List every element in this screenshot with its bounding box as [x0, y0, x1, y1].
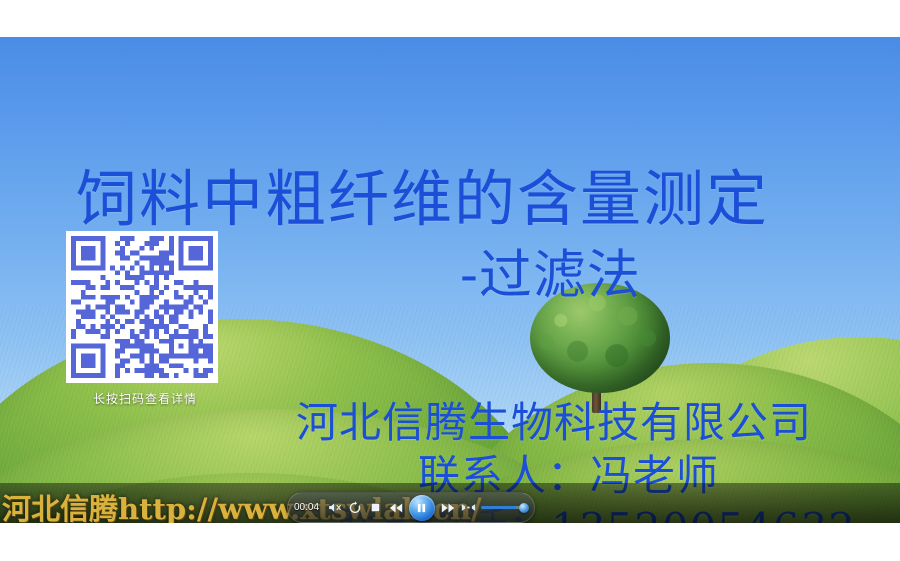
qr-code-block: 长按扫码查看详情 [66, 231, 224, 407]
volume-slider[interactable] [481, 502, 528, 514]
company-name-text: 河北信腾生物科技有限公司 [296, 389, 812, 450]
slide-title-sub: -过滤法 [460, 233, 641, 309]
rewind-icon[interactable] [388, 499, 404, 516]
fast-forward-icon[interactable] [440, 499, 456, 516]
video-player-viewport[interactable]: 饲料中粗纤维的含量测定 -过滤法 河北信腾生物科技有限公司 联系人：冯老师 联系… [0, 37, 900, 523]
screenshot-root: 饲料中粗纤维的含量测定 -过滤法 河北信腾生物科技有限公司 联系人：冯老师 联系… [0, 0, 900, 561]
qr-code-image [71, 236, 213, 378]
media-player-control-bar[interactable]: 00:04 [287, 492, 535, 523]
qr-code-caption: 长按扫码查看详情 [66, 390, 224, 407]
refresh-icon[interactable] [347, 499, 362, 516]
qr-code-card [66, 231, 218, 383]
mute-icon[interactable] [327, 499, 342, 516]
pause-icon[interactable] [409, 495, 435, 521]
stop-icon[interactable] [368, 499, 383, 516]
volume-slider-handle[interactable] [519, 503, 529, 513]
volume-icon[interactable] [461, 499, 476, 516]
elapsed-time-label: 00:04 [294, 502, 322, 513]
slide-title-main: 饲料中粗纤维的含量测定 [76, 149, 769, 238]
